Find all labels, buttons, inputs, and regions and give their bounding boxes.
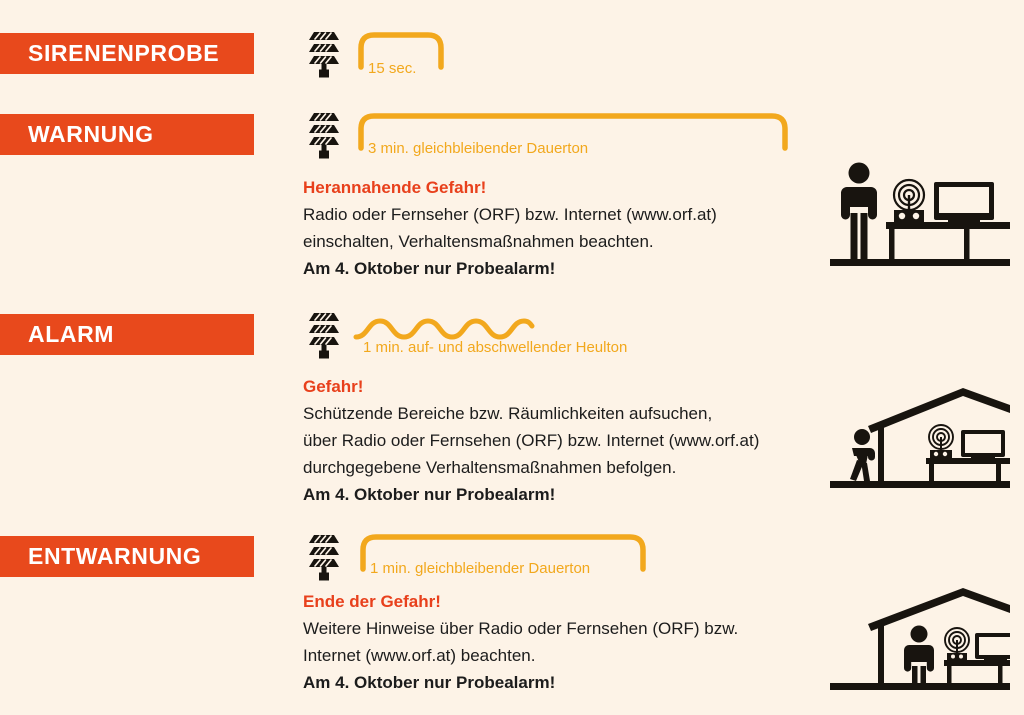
siren-icon	[303, 112, 345, 160]
sound-caption-sirenenprobe: 15 sec.	[368, 61, 416, 76]
illustration-person-outdoors-radio-tv-table	[830, 160, 1010, 280]
text-line: einschalten, Verhaltensmaßnahmen beachte…	[303, 228, 843, 255]
text-block-alarm: Gefahr! Schützende Bereiche bzw. Räumlic…	[303, 373, 843, 508]
text-line: Weitere Hinweise über Radio oder Fernseh…	[303, 615, 843, 642]
text-heading-entwarnung: Ende der Gefahr!	[303, 588, 843, 615]
text-line: über Radio oder Fernsehen (ORF) bzw. Int…	[303, 427, 843, 454]
siren-icon	[303, 312, 345, 360]
sound-caption-entwarnung: 1 min. gleichbleibender Dauerton	[370, 561, 590, 576]
siren-signals-infographic: SIRENENPROBE 15 sec.	[0, 0, 1024, 715]
text-line: Radio oder Fernseher (ORF) bzw. Internet…	[303, 201, 843, 228]
section-label-warnung: WARNUNG	[28, 123, 154, 146]
section-label-bar-alarm: ALARM	[0, 314, 254, 355]
sound-caption-warnung: 3 min. gleichbleibender Dauerton	[368, 141, 588, 156]
text-block-entwarnung: Ende der Gefahr! Weitere Hinweise über R…	[303, 588, 843, 696]
text-line: durchgegebene Verhaltensmaßnahmen befolg…	[303, 454, 843, 481]
section-label-alarm: ALARM	[28, 323, 114, 346]
sound-caption-alarm: 1 min. auf- und abschwellender Heulton	[363, 340, 627, 355]
text-block-warnung: Herannahende Gefahr! Radio oder Fernsehe…	[303, 174, 843, 282]
text-heading-alarm: Gefahr!	[303, 373, 843, 400]
illustration-person-walking-into-house-radio-tv	[830, 378, 1010, 501]
illustration-person-standing-in-house-radio-tv	[830, 588, 1010, 703]
section-label-sirenenprobe: SIRENENPROBE	[28, 42, 219, 65]
section-label-bar-warnung: WARNUNG	[0, 114, 254, 155]
section-label-bar-entwarnung: ENTWARNUNG	[0, 536, 254, 577]
text-line: Internet (www.orf.at) beachten.	[303, 642, 843, 669]
section-label-entwarnung: ENTWARNUNG	[28, 545, 201, 568]
text-line-probealarm: Am 4. Oktober nur Probealarm!	[303, 669, 843, 696]
siren-icon	[303, 31, 345, 79]
text-line-probealarm: Am 4. Oktober nur Probealarm!	[303, 255, 843, 282]
text-line: Schützende Bereiche bzw. Räumlichkeiten …	[303, 400, 843, 427]
text-heading-warnung: Herannahende Gefahr!	[303, 174, 843, 201]
text-line-probealarm: Am 4. Oktober nur Probealarm!	[303, 481, 843, 508]
section-label-bar-sirenenprobe: SIRENENPROBE	[0, 33, 254, 74]
siren-icon	[303, 534, 345, 582]
